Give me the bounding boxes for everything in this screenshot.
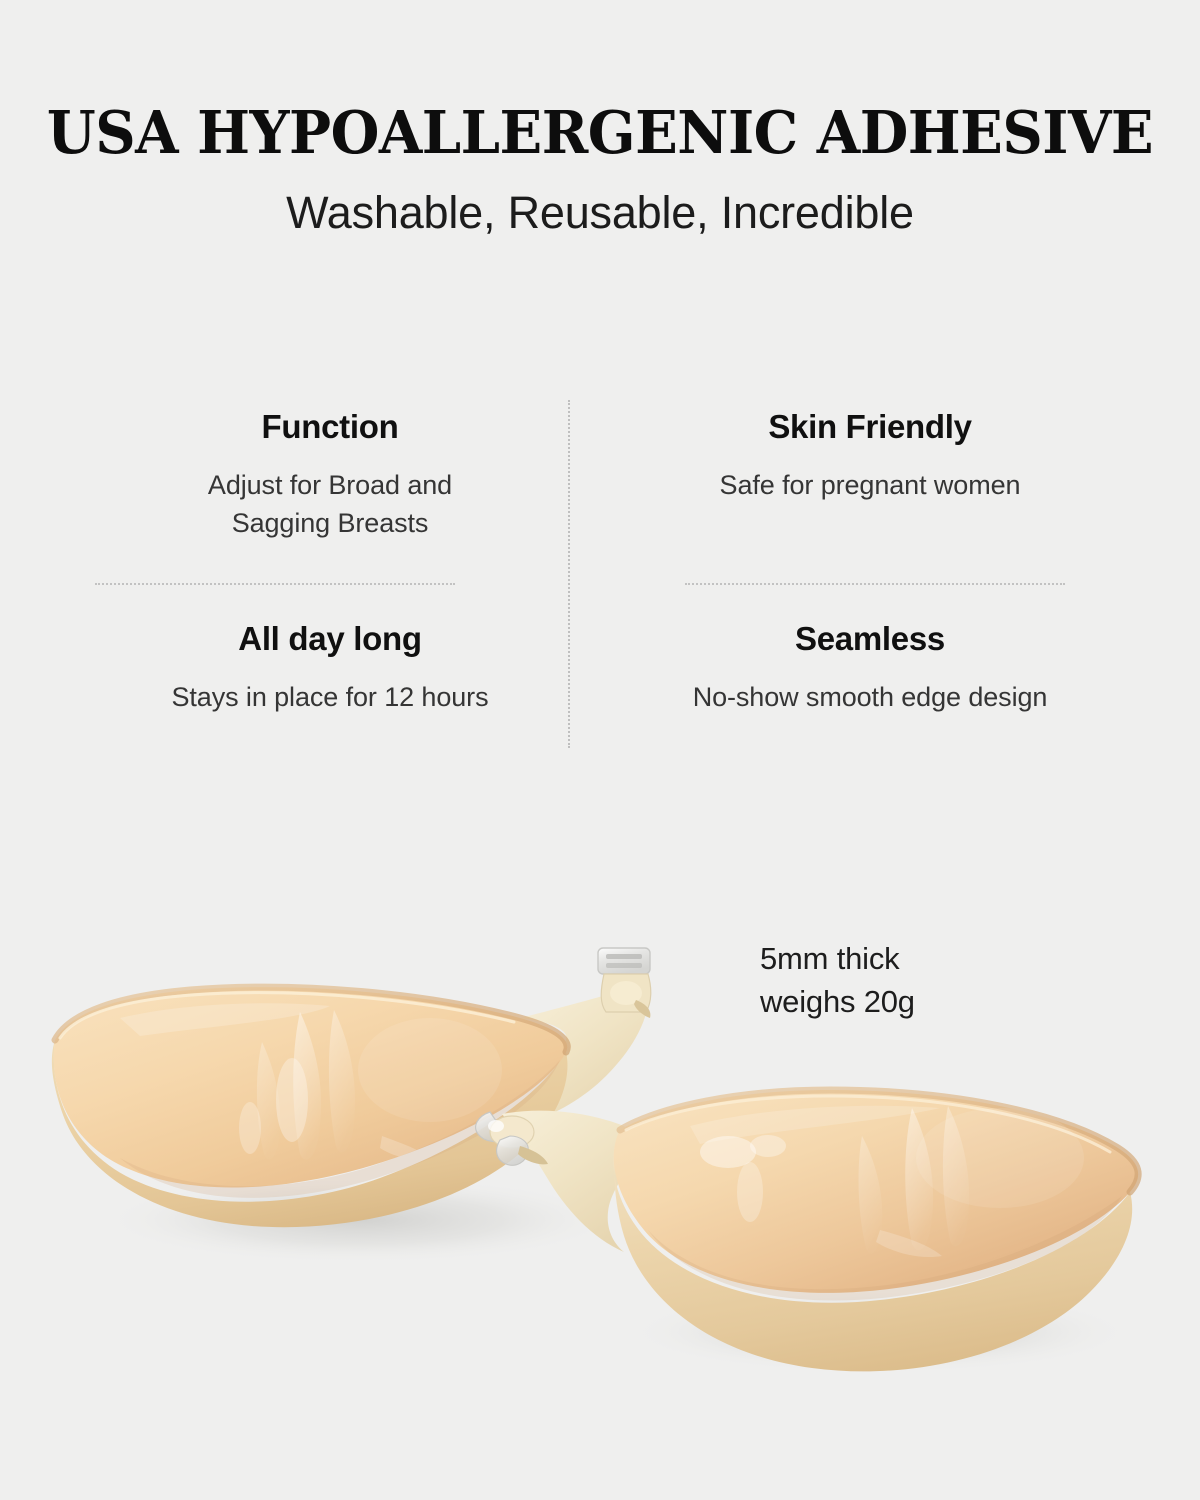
vertical-dotted-divider bbox=[568, 400, 570, 748]
front-closure-clasp-upper bbox=[598, 948, 651, 1018]
feature-description: No-show smooth edge design bbox=[693, 678, 1048, 716]
horizontal-dotted-divider-left bbox=[95, 583, 455, 585]
feature-card-all-day-long: All day long Stays in place for 12 hours bbox=[60, 572, 600, 752]
feature-card-function: Function Adjust for Broad andSagging Bre… bbox=[60, 392, 600, 572]
feature-title: All day long bbox=[238, 620, 421, 658]
page-subtitle: Washable, Reusable, Incredible bbox=[0, 187, 1200, 239]
feature-card-seamless: Seamless No-show smooth edge design bbox=[600, 572, 1140, 752]
feature-card-skin-friendly: Skin Friendly Safe for pregnant women bbox=[600, 392, 1140, 572]
header: USA HYPOALLERGENIC ADHESIVE Washable, Re… bbox=[0, 0, 1200, 239]
product-photo bbox=[0, 900, 1200, 1420]
feature-description: Safe for pregnant women bbox=[720, 466, 1021, 504]
feature-title: Function bbox=[262, 408, 399, 446]
feature-description: Adjust for Broad andSagging Breasts bbox=[208, 466, 452, 543]
feature-title: Skin Friendly bbox=[768, 408, 971, 446]
page-title: USA HYPOALLERGENIC ADHESIVE bbox=[0, 102, 1200, 164]
feature-grid: Function Adjust for Broad andSagging Bre… bbox=[60, 392, 1140, 752]
horizontal-dotted-divider-right bbox=[685, 583, 1065, 585]
feature-description: Stays in place for 12 hours bbox=[172, 678, 489, 716]
feature-title: Seamless bbox=[795, 620, 945, 658]
